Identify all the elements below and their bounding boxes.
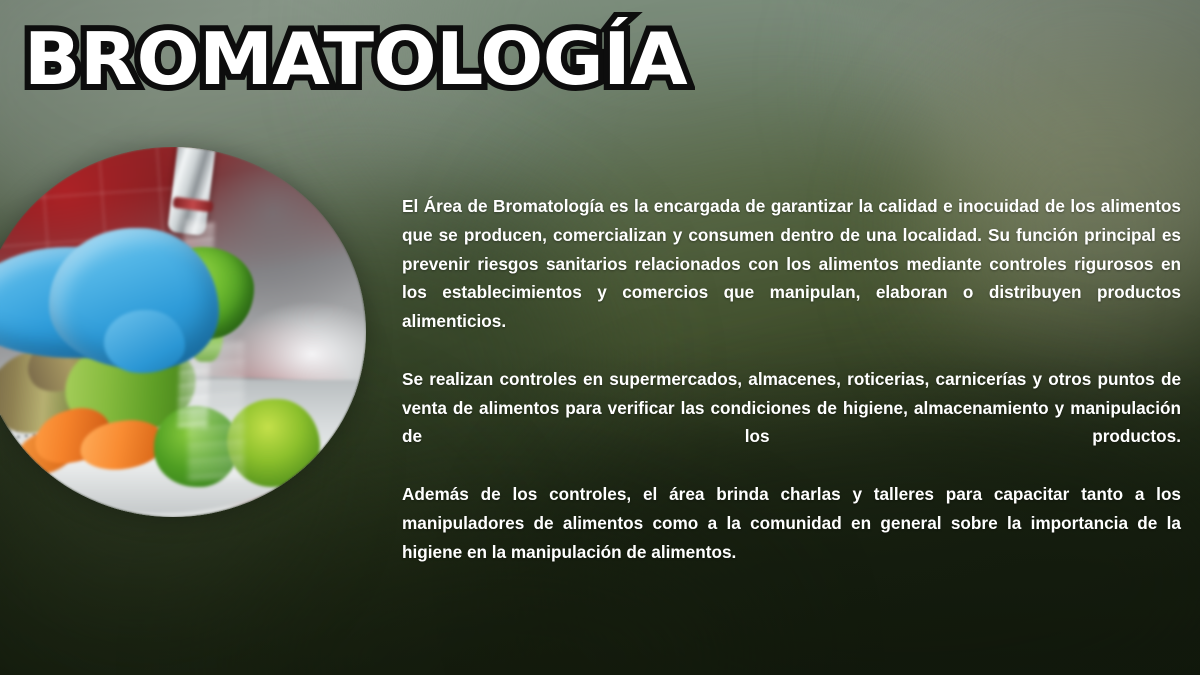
body-copy: El Área de Bromatología es la encargada …: [402, 192, 1181, 566]
paragraph-3: Además de los controles, el área brinda …: [402, 480, 1181, 566]
blue-glove-thumb: [104, 310, 185, 373]
water-splash: [188, 339, 244, 480]
food-inspection-photo: [0, 147, 366, 517]
slide-canvas: BROMATOLOGÍA El Área de Bromatología es …: [0, 0, 1200, 675]
page-title: BROMATOLOGÍA: [24, 16, 687, 102]
paragraph-1: El Área de Bromatología es la encargada …: [402, 192, 1181, 365]
paragraph-2: Se realizan controles en supermercados, …: [402, 365, 1181, 480]
